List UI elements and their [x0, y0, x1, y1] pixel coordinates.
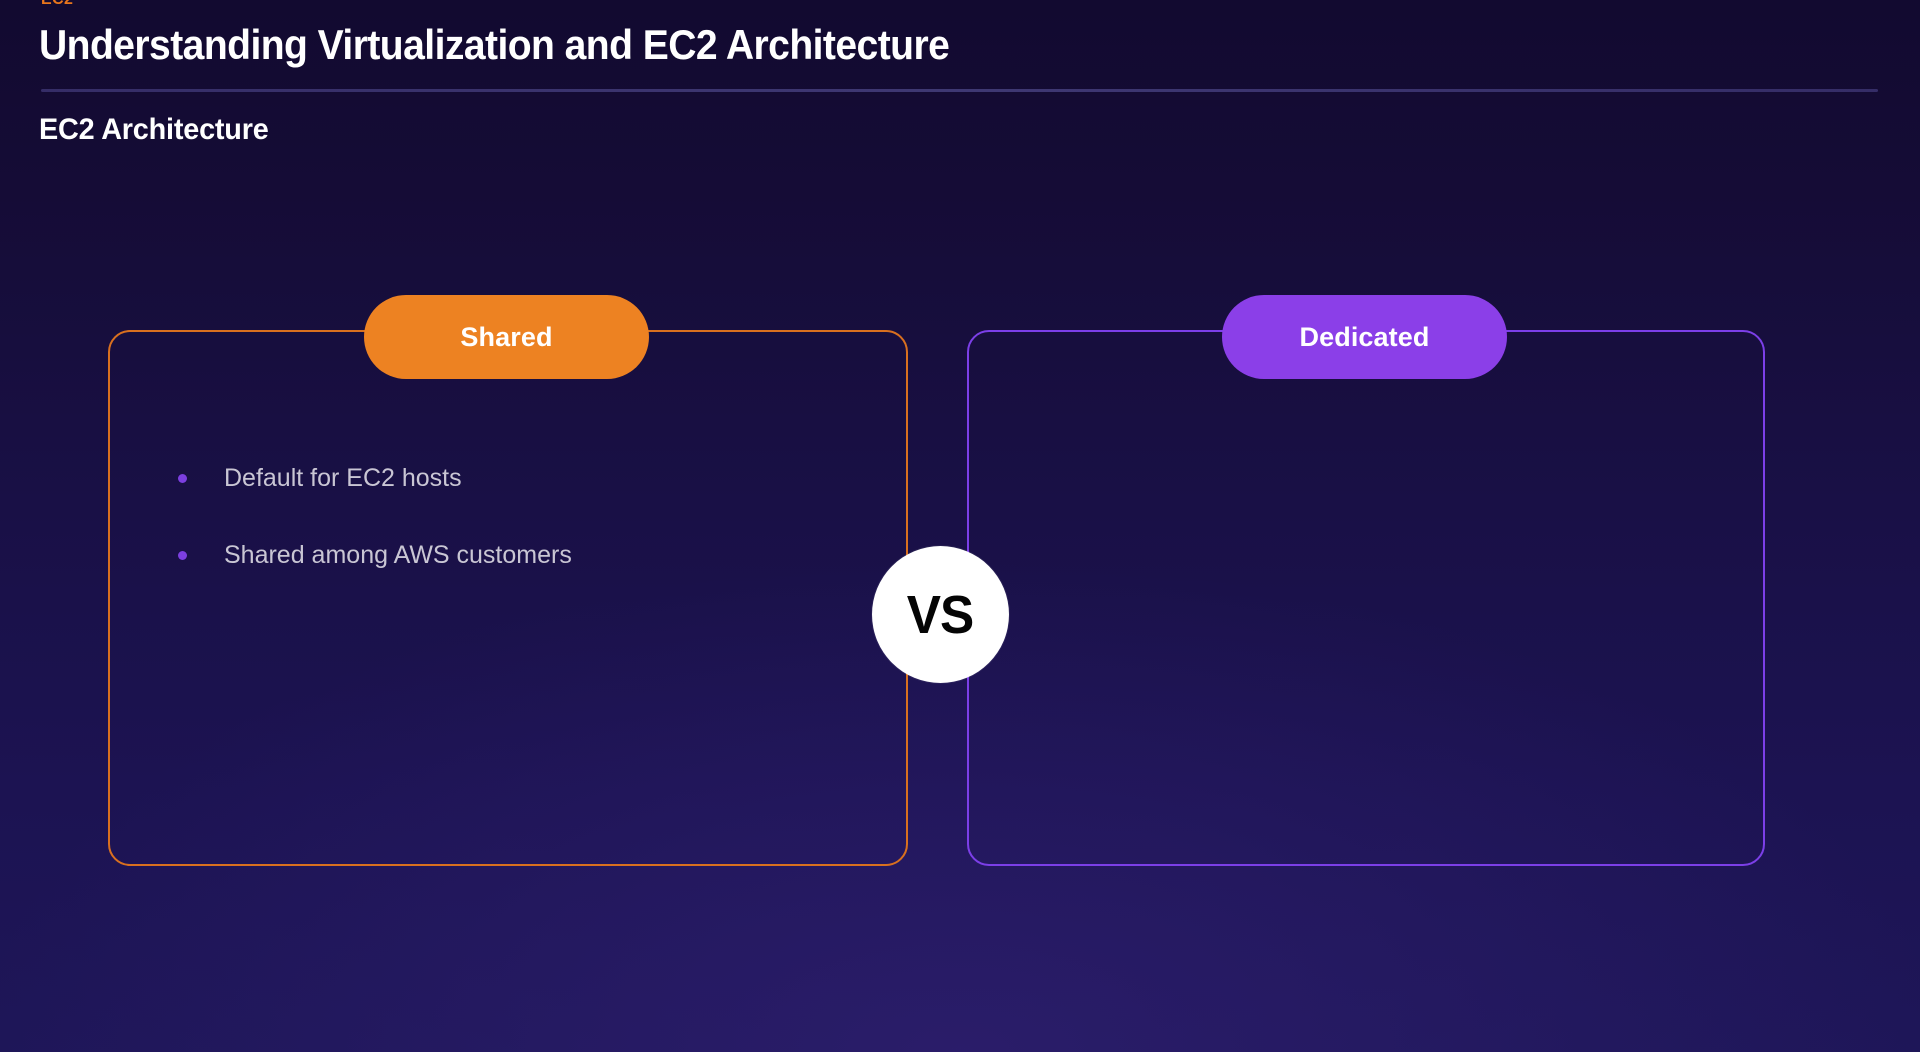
- bullet-list-shared: Default for EC2 hosts Shared among AWS c…: [178, 462, 858, 616]
- list-item-label: Shared among AWS customers: [224, 540, 572, 570]
- badge-shared: Shared: [364, 295, 649, 379]
- vs-label: VS: [907, 584, 974, 646]
- list-item-label: Default for EC2 hosts: [224, 463, 462, 493]
- badge-dedicated: Dedicated: [1222, 295, 1507, 379]
- comparison-container: Shared Dedicated Default for EC2 hosts S…: [0, 0, 1920, 1052]
- list-item: Default for EC2 hosts: [178, 462, 858, 494]
- slide-canvas: EC2 Understanding Virtualization and EC2…: [0, 0, 1920, 1052]
- vs-badge: VS: [872, 546, 1009, 683]
- bullet-dot-icon: [178, 551, 187, 560]
- comparison-card-dedicated: [967, 330, 1765, 866]
- bullet-dot-icon: [178, 474, 187, 483]
- list-item: Shared among AWS customers: [178, 539, 858, 571]
